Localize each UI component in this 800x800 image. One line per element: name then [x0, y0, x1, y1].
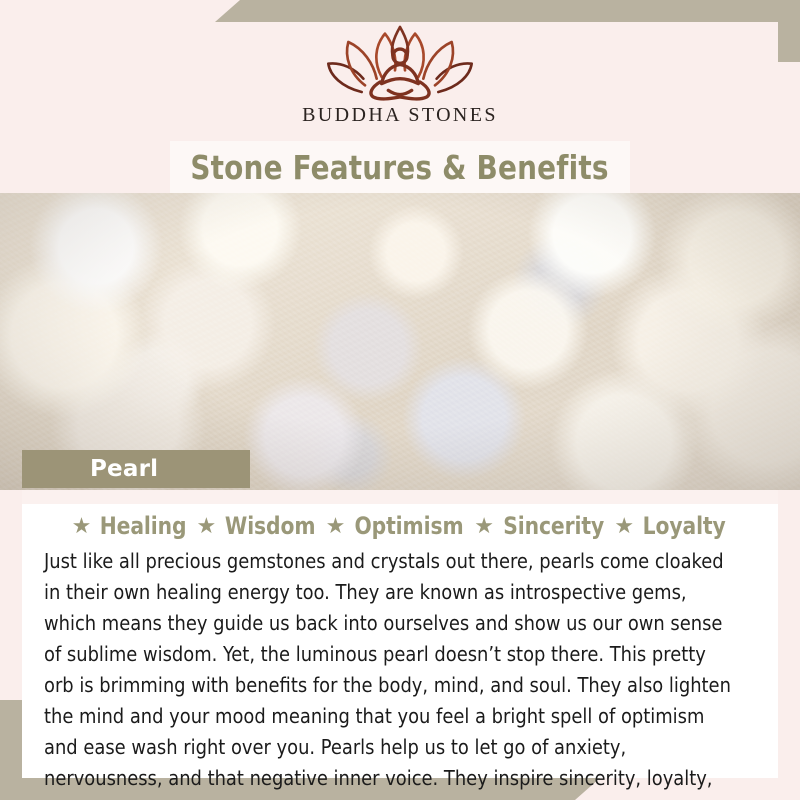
- star-icon: ★: [474, 515, 494, 537]
- benefit-label: Optimism: [355, 512, 464, 540]
- star-icon: ★: [72, 515, 92, 537]
- panel-top-tint: [22, 490, 778, 504]
- infographic-card: BUDDHA STONES Stone Features & Benefits …: [0, 0, 800, 800]
- benefits-row: ★ Healing ★ Wisdom ★ Optimism ★ Sincerit…: [36, 512, 764, 540]
- lotus-meditation-icon: [316, 22, 484, 102]
- corner-frame-left-edge: [0, 700, 22, 800]
- benefit-item-optimism: ★ Optimism: [326, 512, 468, 540]
- corner-frame-top-right: [215, 0, 800, 22]
- benefit-label: Loyalty: [643, 512, 726, 540]
- star-icon: ★: [614, 515, 634, 537]
- benefit-item-wisdom: ★ Wisdom: [197, 512, 319, 540]
- benefit-label: Healing: [100, 512, 187, 540]
- title-banner: Stone Features & Benefits: [170, 141, 630, 193]
- page-title: Stone Features & Benefits: [191, 148, 609, 187]
- brand-name: BUDDHA STONES: [302, 104, 498, 127]
- stone-description: Just like all precious gemstones and cry…: [44, 546, 735, 800]
- benefit-item-loyalty: ★ Loyalty: [614, 512, 728, 540]
- pearl-photo: [0, 193, 800, 490]
- benefit-label: Sincerity: [503, 512, 604, 540]
- star-icon: ★: [197, 515, 217, 537]
- benefit-label: Wisdom: [225, 512, 316, 540]
- photo-vignette: [0, 193, 800, 490]
- benefit-item-healing: ★ Healing: [72, 512, 190, 540]
- brand-block: BUDDHA STONES: [0, 22, 800, 140]
- star-icon: ★: [326, 515, 346, 537]
- stone-name-banner: Pearl: [22, 450, 250, 488]
- benefit-item-sincerity: ★ Sincerity: [474, 512, 607, 540]
- stone-name: Pearl: [22, 456, 158, 482]
- content-panel: ★ Healing ★ Wisdom ★ Optimism ★ Sincerit…: [22, 490, 778, 778]
